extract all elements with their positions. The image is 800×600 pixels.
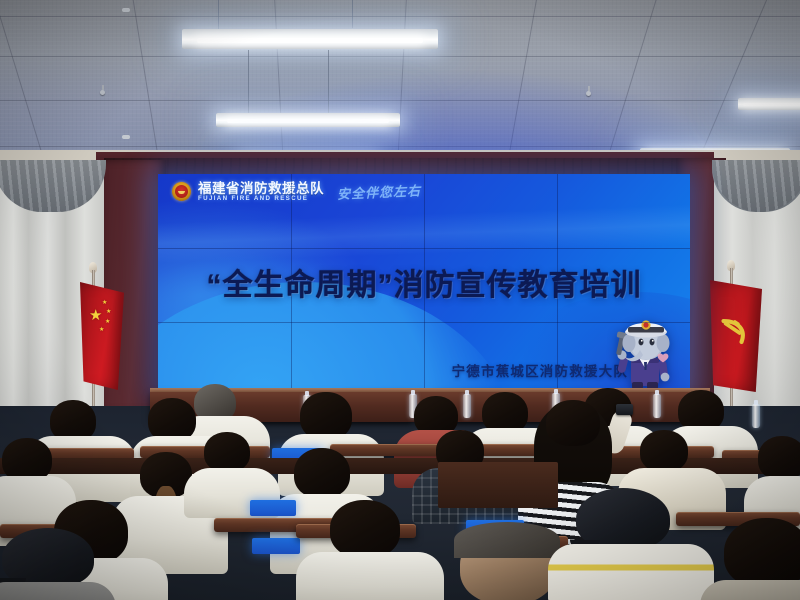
smoke-detector: [122, 8, 130, 12]
baseball-cap: [576, 488, 670, 550]
slide-subtitle: 宁德市蕉城区消防救援大队: [452, 360, 628, 380]
org-name-en: FUJIAN FIRE AND RESCUE: [198, 196, 324, 202]
lamp-rod: [248, 50, 249, 115]
water-bottle[interactable]: [463, 394, 471, 418]
desk-screen-glow: [252, 538, 300, 554]
desk-screen-glow: [250, 500, 296, 516]
water-bottle[interactable]: [653, 394, 661, 418]
led-video-wall[interactable]: 福建省消防救援总队 FUJIAN FIRE AND RESCUE 安全伴您左右 …: [158, 174, 690, 396]
bench-desk-face: [438, 462, 558, 508]
slide-org-block: 福建省消防救援总队 FUJIAN FIRE AND RESCUE: [198, 182, 324, 202]
ceiling-tube-light: [182, 29, 438, 49]
baseball-cap: [2, 528, 94, 588]
slide-header: 福建省消防救援总队 FUJIAN FIRE AND RESCUE 安全伴您左右: [172, 182, 421, 202]
conference-hall-photo: ★ ★ ★ ★ ★ 福建省消防救援总队 FUJIAN F: [0, 0, 800, 600]
hammer-sickle-icon: [719, 316, 749, 350]
water-bottle[interactable]: [752, 404, 760, 428]
fire-rescue-emblem-icon: [172, 182, 191, 201]
ceiling-tube-light: [216, 113, 400, 127]
lamp-rod: [218, 0, 219, 30]
smoke-detector: [122, 135, 130, 139]
slide-slogan: 安全伴您左右: [337, 181, 422, 204]
lamp-rod: [352, 0, 353, 28]
lamp-rod: [328, 50, 329, 113]
ceiling-tube-light: [738, 98, 800, 110]
smartphone[interactable]: [616, 404, 633, 415]
org-name-cn: 福建省消防救援总队: [198, 182, 324, 196]
elephant-firefighter-mascot: [606, 308, 684, 392]
sprinkler-head: [586, 91, 591, 96]
sprinkler-head: [100, 90, 105, 95]
